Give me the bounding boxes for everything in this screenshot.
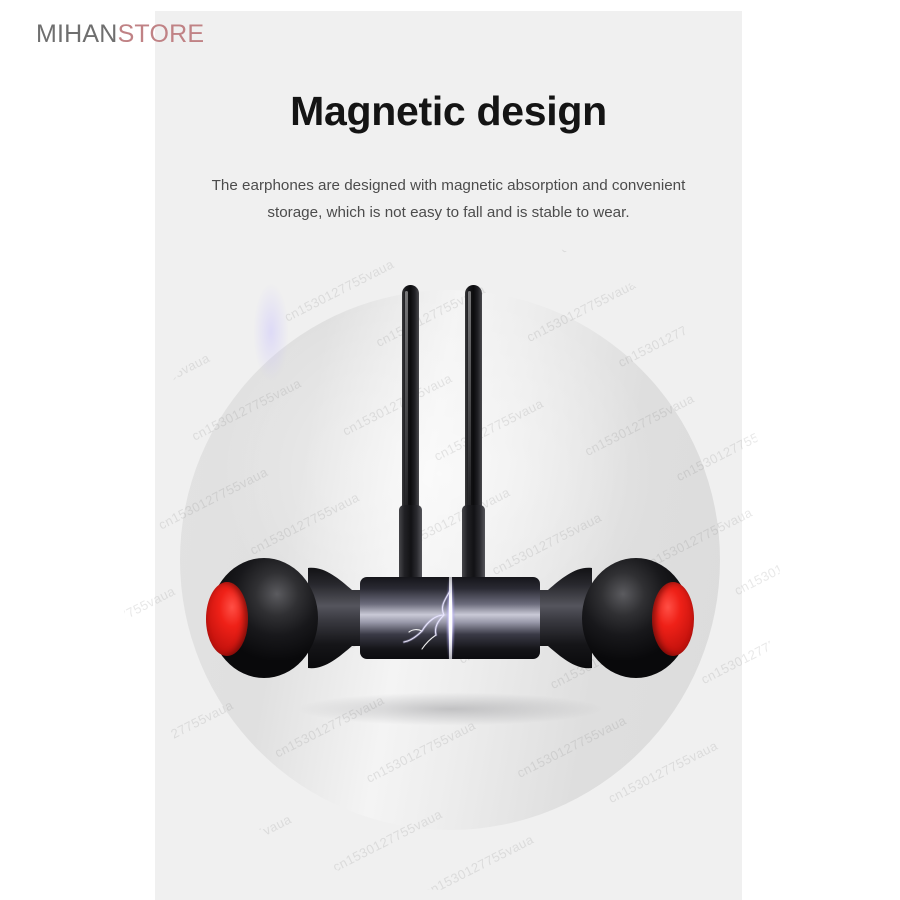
product-detail-page: MIHANSTORE Magnetic design The earphones… (0, 0, 900, 900)
earphone-cable-right (465, 285, 482, 515)
subtitle-line-1: The earphones are designed with magnetic… (212, 177, 686, 194)
brand-logo-secondary: STORE (118, 20, 205, 48)
page-subtitle: The earphones are designed with magnetic… (195, 172, 702, 226)
subtitle-line-2: storage, which is not easy to fall and i… (267, 204, 629, 221)
product-image-stage: cn1530127755vauacn1530127755vauacn153012… (180, 290, 720, 830)
lightning-bolt-icon (400, 585, 460, 655)
cable-highlight-right (468, 291, 471, 507)
brand-logo-primary: MIHAN (36, 20, 118, 48)
magnetic-barrel (360, 577, 540, 659)
earphone-cable-left (402, 285, 419, 515)
brand-logo[interactable]: MIHANSTORE (36, 20, 204, 49)
eartip-right (652, 582, 694, 656)
cable-highlight-left (405, 291, 408, 507)
eartip-left (206, 582, 248, 656)
product-drop-shadow (238, 686, 662, 732)
page-title: Magnetic design (155, 88, 742, 135)
